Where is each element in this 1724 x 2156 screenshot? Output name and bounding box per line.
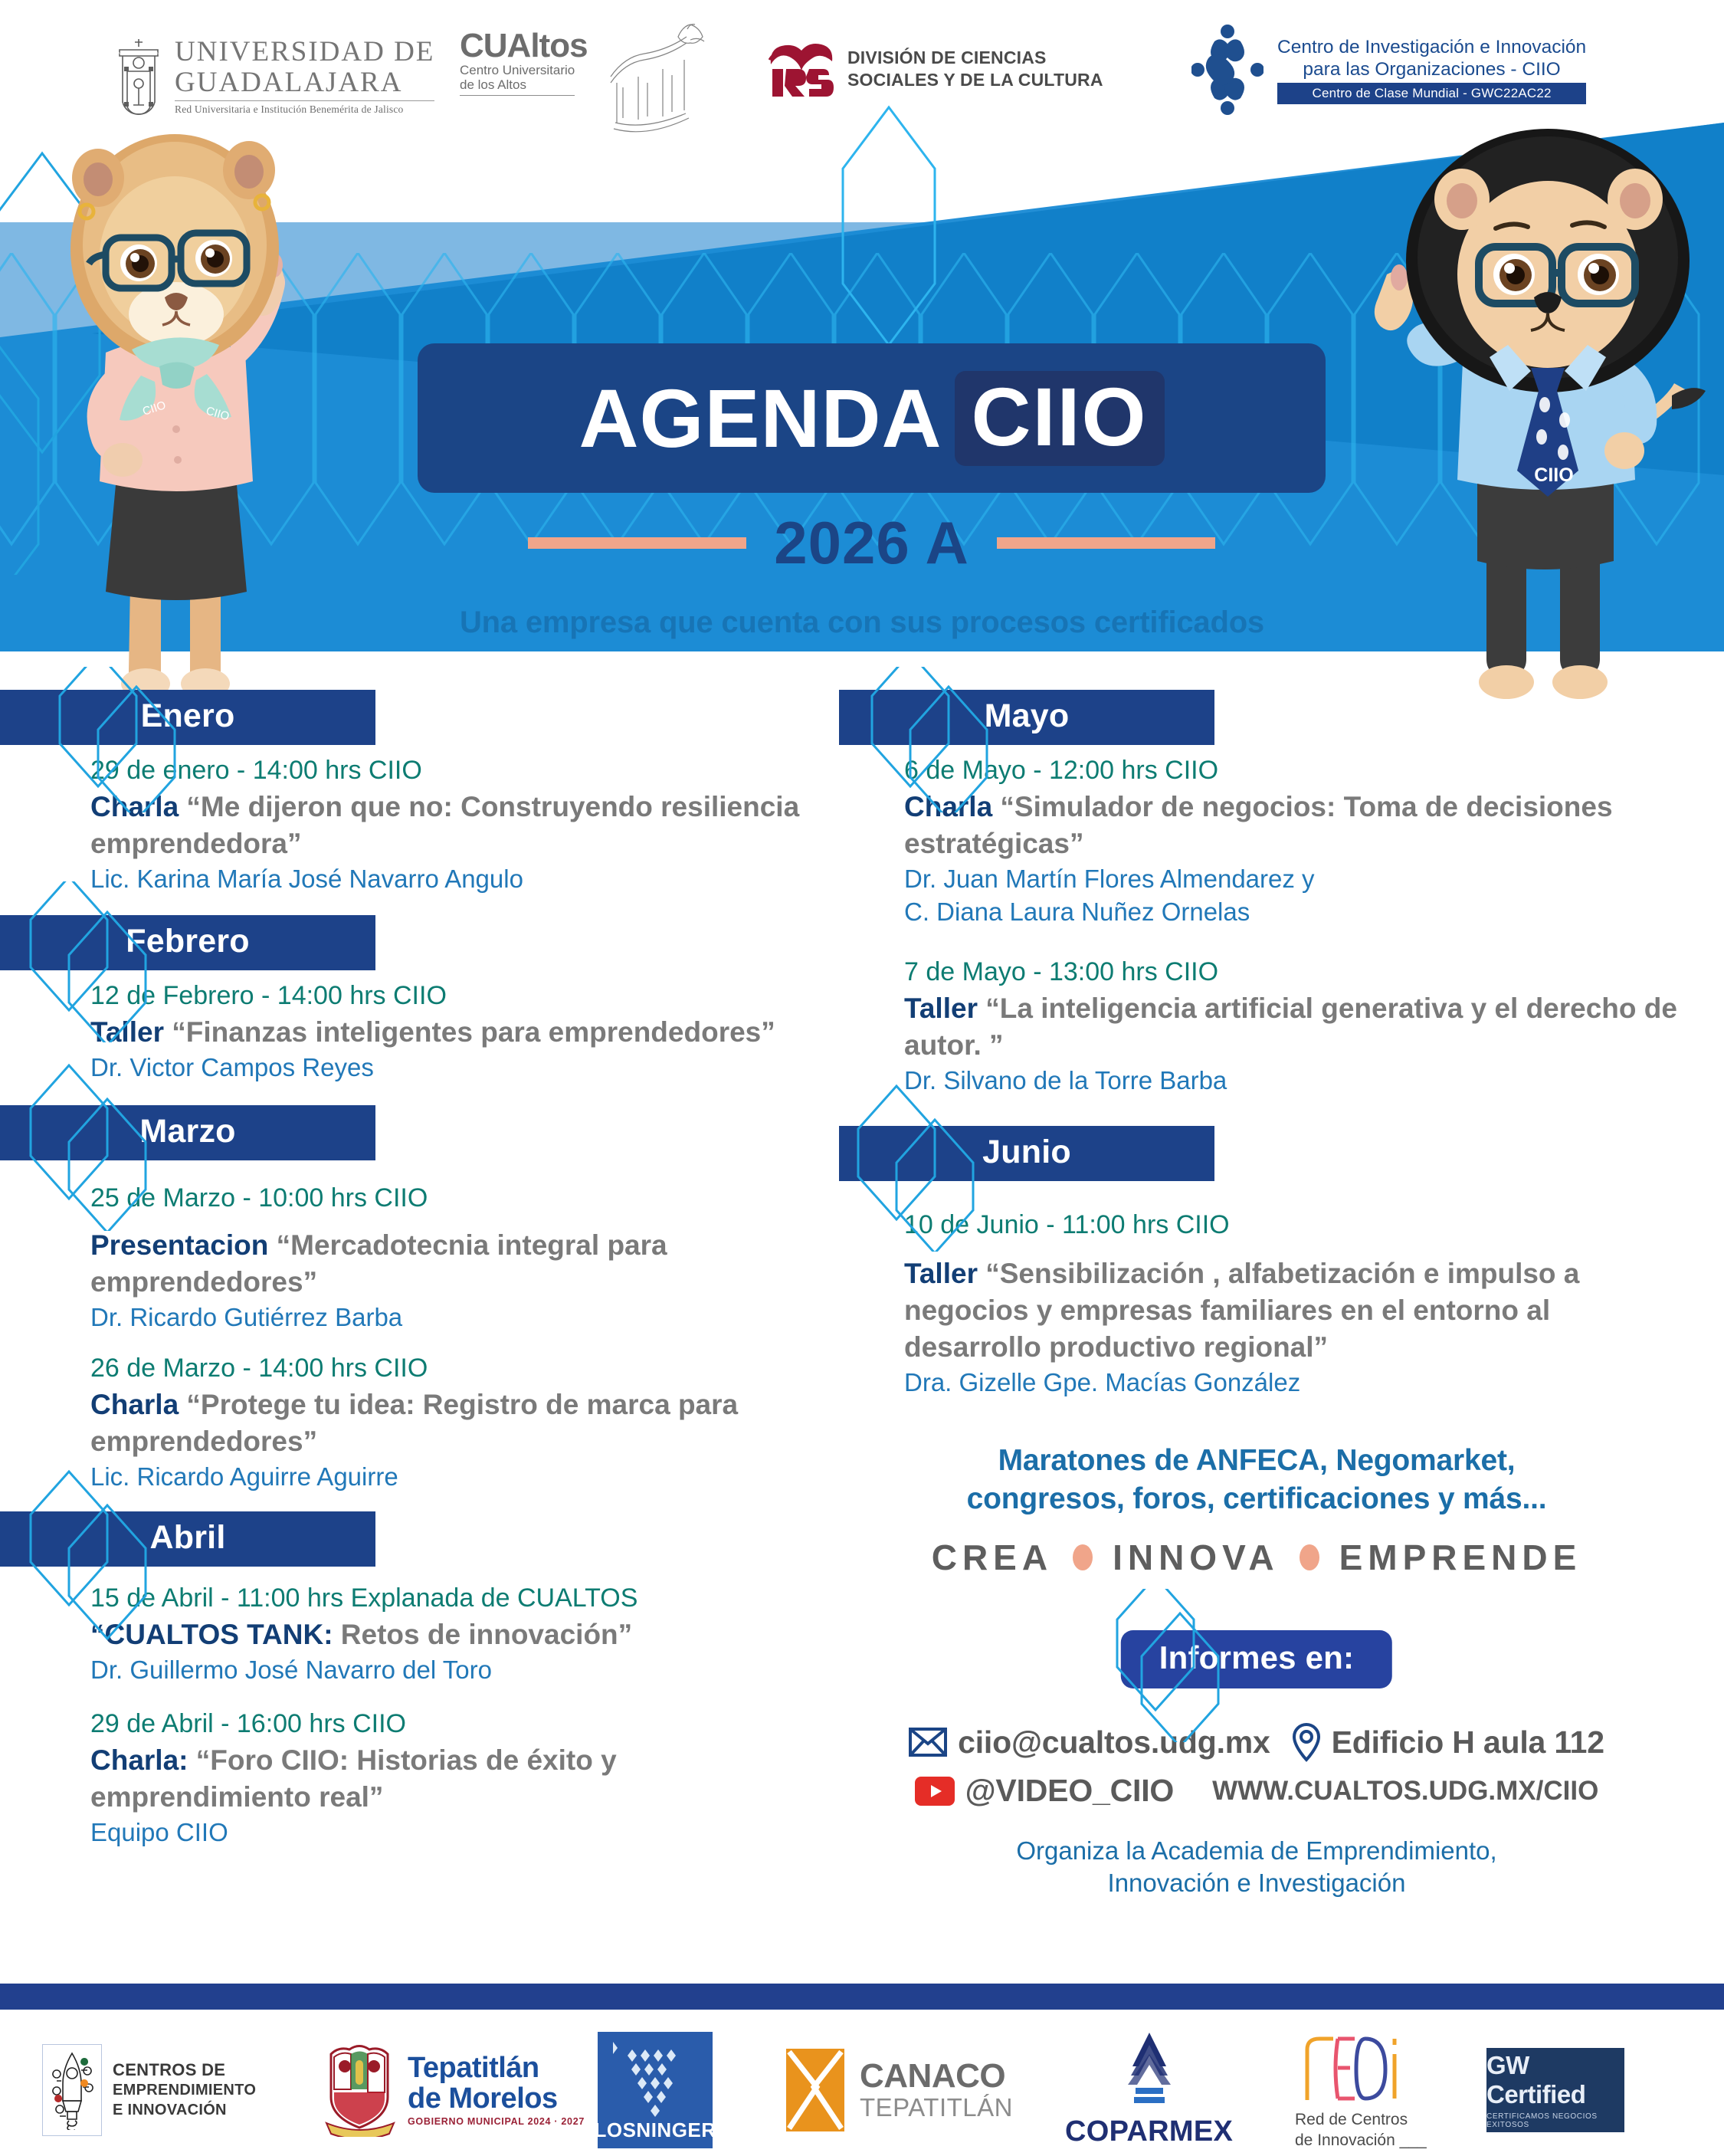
event-item: 6 de Mayo - 12:00 hrs CIIO Charla “Simul…: [904, 753, 1686, 928]
logo-gw-certified: GW Certified CERTIFICAMOS NEGOCIOS EXITO…: [1486, 2048, 1624, 2132]
event-speaker: Dr. Victor Campos Reyes: [90, 1051, 824, 1084]
logo-losninger: LOSNINGER: [598, 2032, 713, 2148]
event-speaker: Dr. Juan Martín Flores Almendarez y C. D…: [904, 862, 1686, 928]
ciio-people-icon: [1191, 25, 1264, 115]
event-date: 25 de Marzo - 10:00 hrs CIIO: [90, 1180, 824, 1216]
month-label-enero: Enero: [0, 690, 375, 745]
slogan-crea: CREA: [932, 1537, 1053, 1578]
event-title: Charla “Me dijeron que no: Construyendo …: [90, 789, 824, 862]
tepatitlan-coat-of-arms-icon: [322, 2043, 397, 2137]
event-title-text: “La inteligencia artificial generativa y…: [904, 993, 1677, 1061]
event-title: Presentacion “Mercadotecnia integral par…: [90, 1227, 824, 1301]
event-item: 7 de Mayo - 13:00 hrs CIIO Taller “La in…: [904, 954, 1686, 1097]
event-kind: Presentacion: [90, 1229, 268, 1261]
canaco-line-2: TEPATITLÁN: [860, 2094, 1013, 2121]
month-block-mayo: Mayo 6 de Mayo - 12:00 hrs CIIO Charla “…: [828, 690, 1686, 1097]
email-icon: [909, 1727, 947, 1757]
agenda-column-left: Enero 29 de enero - 14:00 hrs CIIO Charl…: [0, 690, 824, 1849]
ciio-line-1: Centro de Investigación e Innovación: [1277, 36, 1586, 58]
losninger-box: LOSNINGER: [598, 2032, 713, 2148]
event-date: 6 de Mayo - 12:00 hrs CIIO: [904, 753, 1686, 789]
month-block-enero: Enero 29 de enero - 14:00 hrs CIIO Charl…: [0, 690, 824, 895]
slogan-row: CREA INNOVA EMPRENDE: [828, 1537, 1686, 1578]
website-text: WWW.CUALTOS.UDG.MX/CIIO: [1212, 1776, 1598, 1807]
title-year: 2026 A: [774, 508, 969, 578]
event-date: 15 de Abril - 11:00 hrs Explanada de CUA…: [90, 1580, 824, 1616]
cei-line-2: EMPRENDIMIENTO: [113, 2080, 256, 2100]
month-block-junio: Junio 10 de Junio - 11:00 hrs CIIO Talle…: [828, 1126, 1686, 1399]
event-title-text: “Protege tu idea: Registro de marca para…: [90, 1389, 738, 1457]
organiza-note: Organiza la Academia de Emprendimiento, …: [828, 1835, 1686, 1899]
event-kind: Charla: [90, 1389, 179, 1420]
month-label-febrero: Febrero: [0, 915, 375, 970]
tepatitlan-line-3: GOBIERNO MUNICIPAL 2024 · 2027: [408, 2116, 585, 2127]
event-item: 25 de Marzo - 10:00 hrs CIIO Presentacio…: [90, 1180, 824, 1334]
event-speaker: Lic. Ricardo Aguirre Aguirre: [90, 1460, 824, 1493]
decorative-hexagon-center: [812, 100, 965, 376]
month-label-mayo: Mayo: [839, 690, 1214, 745]
cei-line-1: CENTROS DE: [113, 2060, 256, 2080]
canaco-line-1: CANACO: [860, 2059, 1013, 2094]
event-speaker: Lic. Karina María José Navarro Angulo: [90, 862, 824, 895]
event-kind: Taller: [904, 1258, 978, 1289]
canaco-mark-icon: [782, 2044, 849, 2136]
cei-line-3: E INNOVACIÓN: [113, 2100, 256, 2120]
logo-universidad-de-guadalajara: UNIVERSIDAD DE GUADALAJARA UNIVERSIDAD D…: [115, 37, 434, 116]
title-agenda: AGENDA: [578, 377, 942, 460]
event-kind: Charla:: [90, 1744, 188, 1776]
maratones-line-1: Maratones de ANFECA, Negomarket,: [828, 1442, 1686, 1480]
event-title: Charla “Simulador de negocios: Toma de d…: [904, 789, 1686, 862]
udg-shield-icon: UNIVERSIDAD DE GUADALAJARA: [115, 38, 162, 116]
month-label-junio: Junio: [839, 1126, 1214, 1181]
ciio-line-2: para las Organizaciones - CIIO: [1277, 58, 1586, 80]
footer-divider-bar: [0, 1984, 1724, 2010]
event-kind: “CUALTOS TANK:: [90, 1619, 333, 1650]
contact-youtube[interactable]: @VIDEO_CIIO: [915, 1773, 1174, 1809]
month-label-abril: Abril: [0, 1511, 375, 1567]
event-speaker: Dra. Gizelle Gpe. Macías González: [904, 1366, 1686, 1399]
location-text: Edificio H aula 112: [1332, 1724, 1604, 1761]
organiza-line-2: Innovación e Investigación: [828, 1867, 1686, 1899]
logo-ciio: Centro de Investigación e Innovación par…: [1191, 25, 1586, 115]
rocket-icon: [51, 2050, 93, 2130]
mascot-lion-illustration: CIIO: [1372, 115, 1720, 713]
event-title: Taller “Finanzas inteligentes para empre…: [90, 1014, 824, 1051]
event-kind: Charla: [90, 791, 179, 822]
losninger-diamond-pattern-icon: [613, 2042, 697, 2118]
red-line-2: de Innovación ___: [1295, 2130, 1427, 2151]
event-speaker: Equipo CIIO: [90, 1816, 824, 1849]
logo-cualtos: CUAltos Centro Universitario de los Alto…: [460, 29, 690, 96]
svg-text:UNIVERSIDAD DE GUADALAJARA: UNIVERSIDAD DE GUADALAJARA: [115, 51, 162, 55]
maratones-line-2: congresos, foros, certificaciones y más.…: [828, 1480, 1686, 1518]
month-block-abril: Abril 15 de Abril - 11:00 hrs Explanada …: [0, 1511, 824, 1849]
event-title: “CUALTOS TANK: Retos de innovación”: [90, 1616, 824, 1653]
mascot-lioness-illustration: CIIO CIIO: [15, 123, 337, 705]
slogan-dot-icon: [1300, 1544, 1319, 1570]
dcsc-line-1: DIVISIÓN DE CIENCIAS: [847, 47, 1103, 69]
title-year-row: 2026 A: [418, 512, 1326, 573]
ciio-world-class-badge: Centro de Clase Mundial - GWC22AC22: [1277, 83, 1586, 104]
youtube-text: @VIDEO_CIIO: [965, 1773, 1174, 1809]
maratones-promo: Maratones de ANFECA, Negomarket, congres…: [828, 1442, 1686, 1518]
contact-row-1: ciio@cualtos.udg.mx Edificio H aula 112: [828, 1722, 1686, 1762]
year-rule-right: [997, 537, 1215, 549]
event-title-text: Retos de innovación”: [333, 1619, 633, 1650]
year-rule-left: [528, 537, 746, 549]
udg-line-1: UNIVERSIDAD DE: [175, 37, 434, 67]
event-date: 26 de Marzo - 14:00 hrs CIIO: [90, 1350, 824, 1386]
event-title: Charla: “Foro CIIO: Historias de éxito y…: [90, 1742, 824, 1816]
event-speaker: Dr. Ricardo Gutiérrez Barba: [90, 1301, 824, 1334]
event-item: 15 de Abril - 11:00 hrs Explanada de CUA…: [90, 1580, 824, 1686]
event-item: 29 de enero - 14:00 hrs CIIO Charla “Me …: [90, 753, 824, 895]
event-title: Charla “Protege tu idea: Registro de mar…: [90, 1386, 824, 1460]
dcsc-line-2: SOCIALES Y DE LA CULTURA: [847, 69, 1103, 91]
logo-coparmex: COPARMEX: [1065, 2031, 1233, 2148]
logo-centros-de-emprendimiento: CENTROS DE EMPRENDIMIENTO E INNOVACIÓN: [42, 2044, 256, 2136]
youtube-icon: [915, 1777, 955, 1806]
event-kind: Charla: [904, 791, 992, 822]
contact-location: Edificio H aula 112: [1292, 1722, 1604, 1762]
event-title-text: “Finanzas inteligentes para emprendedore…: [164, 1016, 775, 1048]
event-title: Taller “La inteligencia artificial gener…: [904, 990, 1686, 1064]
event-kind: Taller: [904, 993, 978, 1024]
event-date: 29 de Abril - 16:00 hrs CIIO: [90, 1706, 824, 1742]
logo-division-ciencias-sociales: DIVISIÓN DE CIENCIAS SOCIALES Y DE LA CU…: [766, 37, 1103, 101]
gw-wordmark: GW Certified: [1486, 2051, 1624, 2109]
udg-tagline: Red Universitaria e Institución Beneméri…: [175, 103, 434, 116]
gw-certified-box: GW Certified CERTIFICAMOS NEGOCIOS EXITO…: [1486, 2048, 1624, 2132]
event-title-text: “Me dijeron que no: Construyendo resilie…: [90, 791, 799, 859]
contact-website[interactable]: WWW.CUALTOS.UDG.MX/CIIO: [1212, 1776, 1598, 1807]
event-item: 10 de Junio - 11:00 hrs CIIO Taller “Sen…: [904, 1207, 1686, 1399]
slogan-innova: INNOVA: [1113, 1537, 1280, 1578]
slogan-dot-icon: [1073, 1544, 1093, 1570]
coparmex-mark-icon: [1113, 2031, 1186, 2112]
red-line-1: Red de Centros: [1295, 2109, 1427, 2130]
tepatitlan-line-2: de Morelos: [408, 2083, 585, 2114]
cei-rocket-box: [42, 2044, 102, 2136]
cualtos-divider: [460, 95, 575, 96]
event-date: 10 de Junio - 11:00 hrs CIIO: [904, 1207, 1686, 1243]
event-item: 26 de Marzo - 14:00 hrs CIIO Charla “Pro…: [90, 1350, 824, 1493]
dcsc-mark-icon: [766, 37, 837, 101]
logo-red-de-centros: Red de Centros de Innovación ___: [1295, 2030, 1427, 2151]
event-speaker: Dr. Guillermo José Navarro del Toro: [90, 1653, 824, 1686]
udg-divider: [175, 100, 434, 101]
event-title-text: “Simulador de negocios: Toma de decision…: [904, 791, 1613, 859]
red-de-centros-mark-icon: [1295, 2030, 1410, 2105]
logo-canaco: CANACO TEPATITLÁN: [782, 2044, 1013, 2136]
logo-tepatitlan: Tepatitlán de Morelos GOBIERNO MUNICIPAL…: [322, 2043, 585, 2137]
title-ciio-box: CIIO: [955, 371, 1165, 466]
event-kind: Taller: [90, 1016, 164, 1048]
event-item: 29 de Abril - 16:00 hrs CIIO Charla: “Fo…: [90, 1706, 824, 1849]
title-ciio: CIIO: [972, 370, 1148, 463]
footer-sponsor-bar: CENTROS DE EMPRENDIMIENTO E INNOVACIÓN T…: [0, 2023, 1724, 2156]
coparmex-wordmark: COPARMEX: [1065, 2115, 1233, 2148]
cualtos-building-sketch-icon: [601, 23, 716, 142]
header-logo-bar: UNIVERSIDAD DE GUADALAJARA UNIVERSIDAD D…: [0, 0, 1724, 138]
gw-tagline: CERTIFICAMOS NEGOCIOS EXITOSOS: [1486, 2112, 1624, 2129]
event-date: 29 de enero - 14:00 hrs CIIO: [90, 753, 824, 789]
event-speaker: Dr. Silvano de la Torre Barba: [904, 1064, 1686, 1097]
month-block-febrero: Febrero 12 de Febrero - 14:00 hrs CIIO T…: [0, 915, 824, 1084]
event-title: Taller “Sensibilización , alfabetización…: [904, 1255, 1686, 1366]
hexagon-decoration-icon: [1096, 1589, 1257, 1742]
informes-section: Informes en:: [828, 1604, 1686, 1711]
contact-row-2: @VIDEO_CIIO WWW.CUALTOS.UDG.MX/CIIO: [828, 1773, 1686, 1809]
tepatitlan-line-1: Tepatitlán: [408, 2053, 585, 2083]
organiza-line-1: Organiza la Academia de Emprendimiento,: [828, 1835, 1686, 1867]
losninger-wordmark: LOSNINGER: [594, 2118, 716, 2142]
slogan-emprende: EMPRENDE: [1339, 1537, 1582, 1578]
contact-info: ciio@cualtos.udg.mx Edificio H aula 112 …: [828, 1722, 1686, 1809]
event-title-text: “Sensibilización , alfabetización e impu…: [904, 1258, 1579, 1363]
event-date: 7 de Mayo - 13:00 hrs CIIO: [904, 954, 1686, 990]
agenda-column-right: Mayo 6 de Mayo - 12:00 hrs CIIO Charla “…: [828, 690, 1686, 1899]
poster-title-card: AGENDA CIIO: [418, 343, 1326, 493]
event-item: 12 de Febrero - 14:00 hrs CIIO Taller “F…: [90, 978, 824, 1084]
udg-line-2: GUADALAJARA: [175, 67, 434, 98]
month-block-marzo: Marzo 25 de Marzo - 10:00 hrs CIIO Prese…: [0, 1105, 824, 1493]
month-label-marzo: Marzo: [0, 1105, 375, 1160]
svg-text:CIIO: CIIO: [1534, 464, 1573, 486]
event-date: 12 de Febrero - 14:00 hrs CIIO: [90, 978, 824, 1014]
location-pin-icon: [1292, 1722, 1321, 1762]
